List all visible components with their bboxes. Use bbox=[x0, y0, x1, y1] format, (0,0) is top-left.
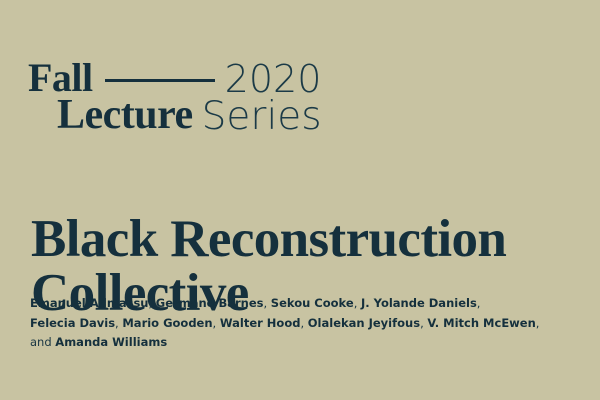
participant-line-1: Emanuel Admassu, Germane Barnes, Sekou C… bbox=[30, 294, 550, 314]
participant-name: Germane Barnes bbox=[156, 296, 264, 310]
participant-name: Walter Hood bbox=[220, 316, 301, 330]
list-separator: , bbox=[300, 316, 307, 330]
participant-line-3: and Amanda Williams bbox=[30, 333, 550, 353]
list-separator: , bbox=[263, 296, 270, 310]
masthead: Fall 2020 Lecture Series bbox=[28, 58, 568, 136]
page-title-line-1: Black Reconstruction bbox=[31, 212, 591, 266]
poster-canvas: Fall 2020 Lecture Series Black Reconstru… bbox=[0, 0, 600, 400]
masthead-line-1: Fall 2020 bbox=[28, 58, 568, 96]
participant-name: Sekou Cooke bbox=[271, 296, 354, 310]
participant-name: Felecia Davis bbox=[30, 316, 115, 330]
list-separator: , bbox=[213, 316, 220, 330]
masthead-line-2: Lecture Series bbox=[28, 94, 568, 136]
list-separator: , bbox=[354, 296, 361, 310]
participant-name: Amanda Williams bbox=[55, 335, 167, 349]
participant-name: Olalekan Jeyifous bbox=[308, 316, 420, 330]
list-separator: , bbox=[536, 316, 540, 330]
horizontal-rule-divider bbox=[105, 79, 215, 82]
masthead-season-label: Fall bbox=[28, 58, 93, 98]
participant-name: J. Yolande Daniels bbox=[361, 296, 477, 310]
participant-line-2: Felecia Davis, Mario Gooden, Walter Hood… bbox=[30, 314, 550, 334]
list-separator: , bbox=[148, 296, 155, 310]
participant-name: Emanuel Admassu bbox=[30, 296, 148, 310]
participant-list: Emanuel Admassu, Germane Barnes, Sekou C… bbox=[30, 294, 550, 353]
participant-name: V. Mitch McEwen bbox=[427, 316, 535, 330]
list-separator: , bbox=[477, 296, 481, 310]
masthead-series-label: Series bbox=[202, 97, 322, 136]
participant-name: Mario Gooden bbox=[122, 316, 212, 330]
masthead-year-label: 2020 bbox=[225, 60, 322, 98]
list-conjunction: and bbox=[30, 335, 55, 349]
masthead-lecture-label: Lecture bbox=[57, 94, 193, 136]
